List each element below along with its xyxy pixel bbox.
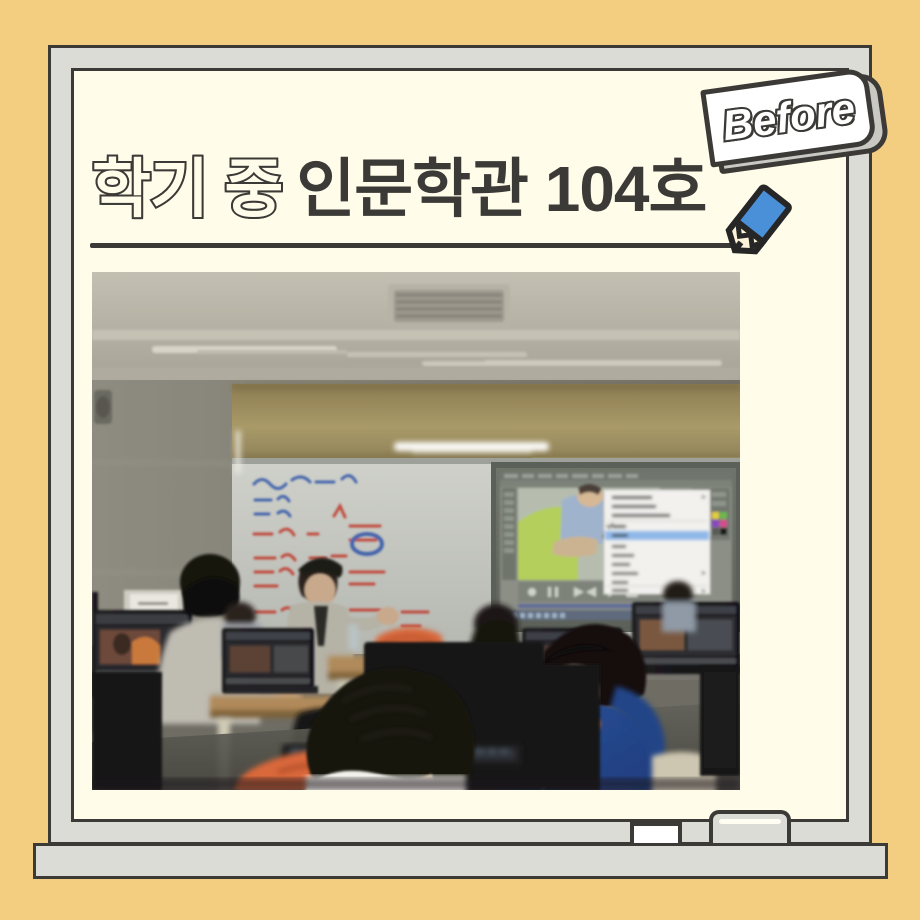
classroom-photo-illustration — [92, 272, 740, 790]
classroom-photo — [92, 272, 740, 790]
whiteboard-tray — [33, 843, 888, 879]
page-title-outlined-part: 학기 중 — [92, 157, 282, 221]
page-root: { "canvas": {"width": 920, "height": 920… — [0, 0, 920, 920]
marker-icon — [630, 822, 682, 844]
page-title: 학기 중 인문학관 104호 — [92, 150, 752, 228]
eraser-icon — [709, 810, 791, 844]
status-badge-label: Before — [720, 87, 858, 147]
pencil-icon — [716, 180, 806, 260]
page-title-solid-part: 인문학관 104호 — [296, 157, 706, 221]
title-underline-divider — [90, 243, 745, 248]
